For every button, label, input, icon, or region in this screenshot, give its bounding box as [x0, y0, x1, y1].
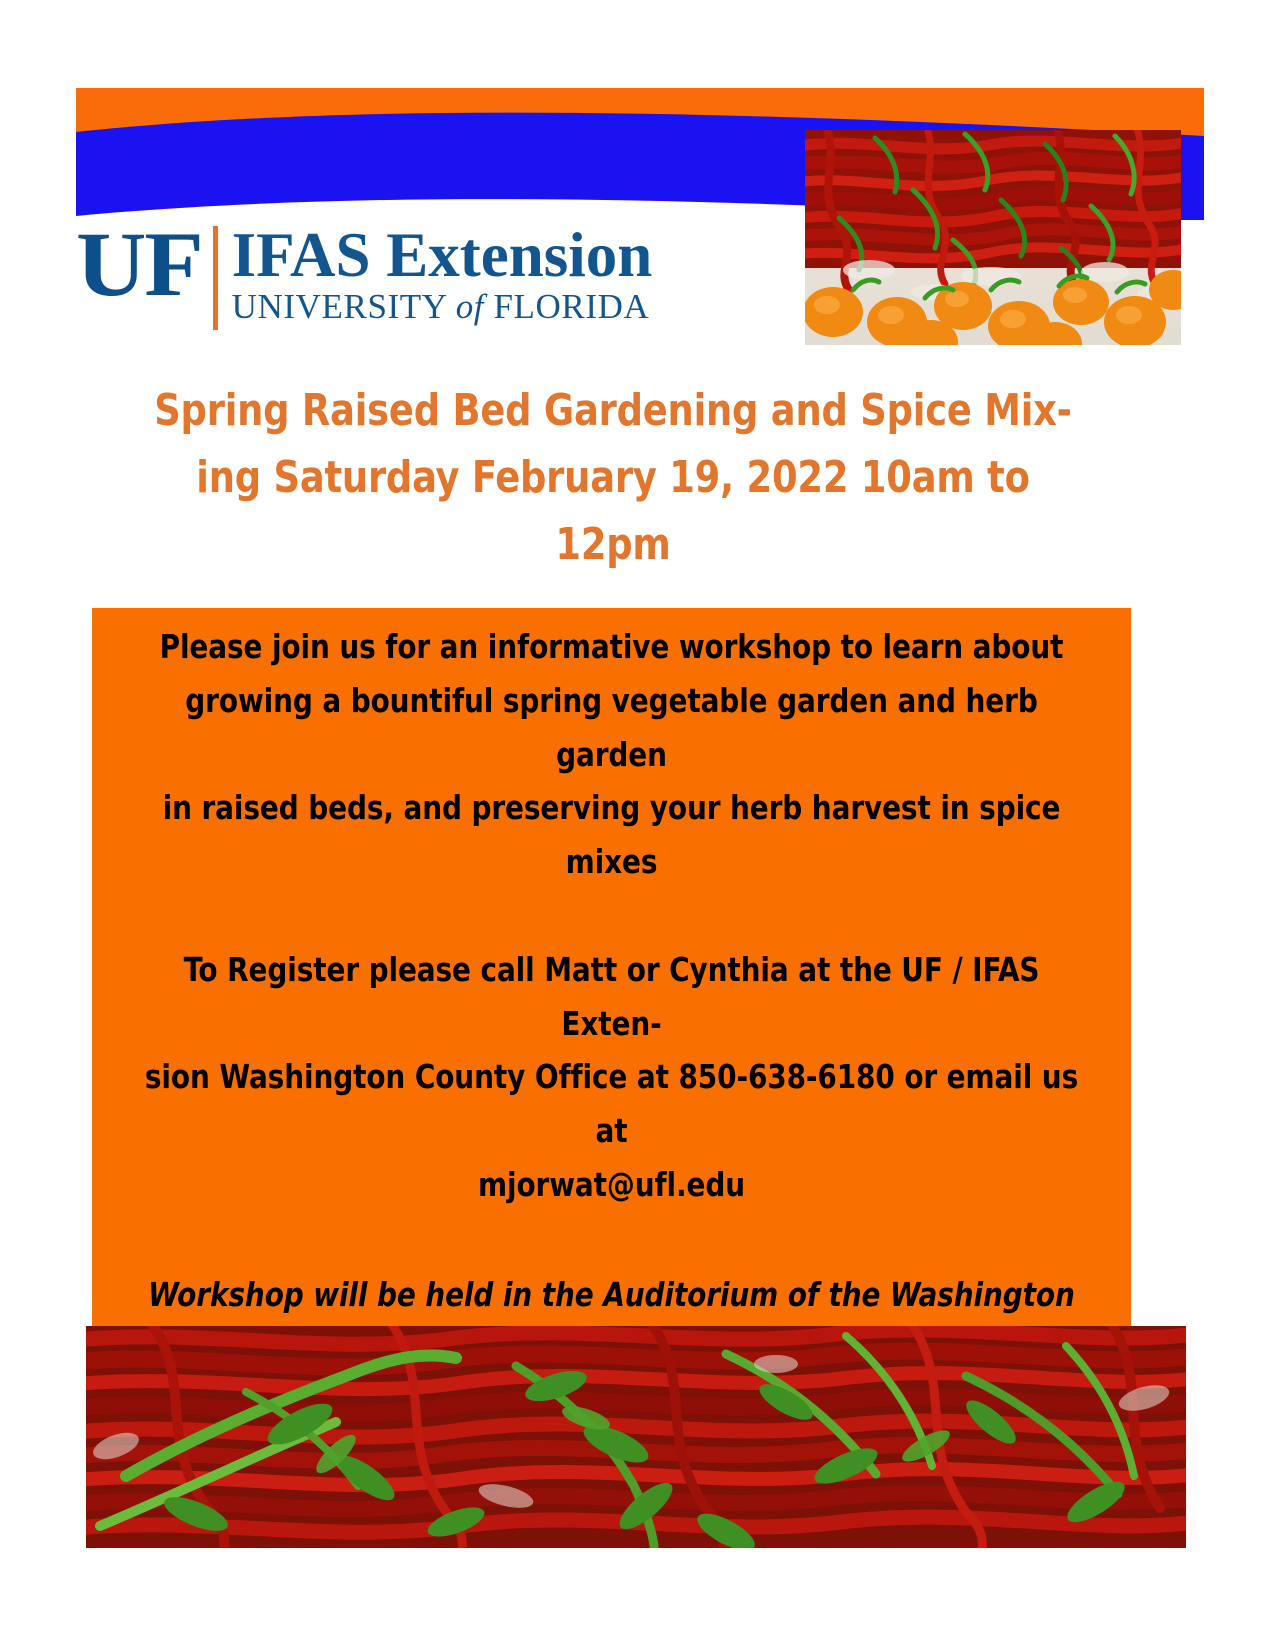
registration-paragraph: To Register please call Matt or Cynthia …: [136, 943, 1086, 1212]
uf-monogram: UF: [76, 222, 202, 307]
logo-ifas-extension-text: IFAS Extension: [232, 224, 653, 287]
paragraph-spacer-2: [106, 1212, 1117, 1268]
logo-university-of-florida-text: UNIVERSITY of FLORIDA: [232, 289, 653, 326]
location-line-1: Workshop will be held in the Auditorium …: [136, 1268, 1086, 1322]
page-title: Spring Raised Bed Gardening and Spice Mi…: [125, 378, 1102, 579]
register-line-2: sion Washington County Office at 850-638…: [136, 1050, 1086, 1158]
content-panel: Please join us for an informative worksh…: [92, 608, 1131, 1326]
red-chili-peppers-with-green-leaves-photo: [86, 1326, 1186, 1548]
paragraph-spacer-1: [106, 889, 1117, 943]
logo-wordmark: IFAS Extension UNIVERSITY of FLORIDA: [232, 222, 653, 326]
top-photo-artwork: [805, 130, 1181, 345]
logo-university-pre: UNIVERSITY: [232, 287, 456, 326]
bottom-photo-artwork: [86, 1326, 1186, 1548]
title-line-1: Spring Raised Bed Gardening and Spice Mi…: [125, 378, 1102, 445]
title-line-3: 12pm: [125, 512, 1102, 579]
intro-paragraph: Please join us for an informative worksh…: [136, 620, 1086, 889]
intro-line-1: Please join us for an informative worksh…: [136, 620, 1086, 674]
logo-university-of: of: [456, 287, 484, 326]
red-chili-and-orange-habanero-peppers-photo: [805, 130, 1181, 345]
uf-ifas-extension-logo: UF IFAS Extension UNIVERSITY of FLORIDA: [76, 222, 796, 344]
intro-line-2: growing a bountiful spring vegetable gar…: [136, 674, 1086, 782]
title-line-2: ing Saturday February 19, 2022 10am to: [125, 445, 1102, 512]
logo-divider: [213, 226, 218, 330]
register-email[interactable]: mjorwat@ufl.edu: [136, 1158, 1086, 1212]
register-line-1: To Register please call Matt or Cynthia …: [136, 943, 1086, 1051]
intro-line-3: in raised beds, and preserving your herb…: [136, 781, 1086, 889]
logo-university-post: FLORIDA: [484, 287, 649, 326]
